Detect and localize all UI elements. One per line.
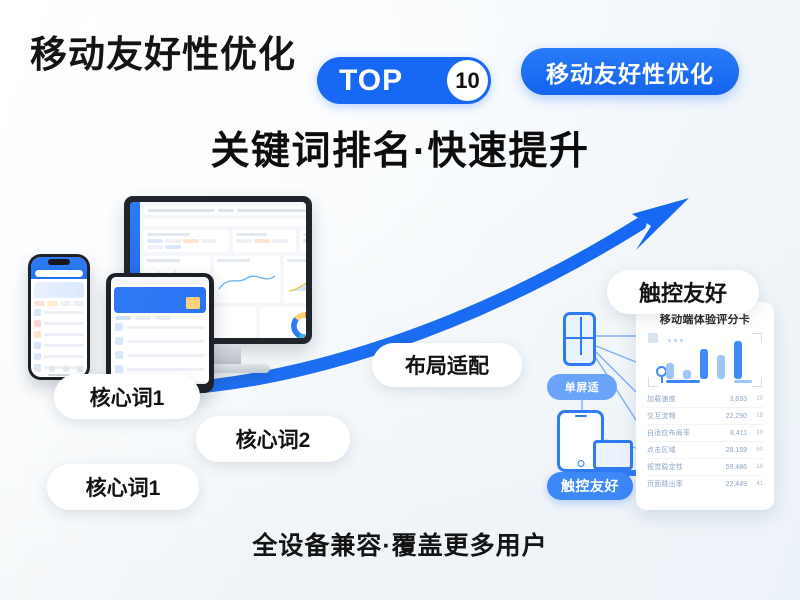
poster-canvas: 移动友好性优化 TOP 10 移动友好性优化 关键词排名·快速提升 bbox=[0, 0, 800, 600]
row-delta: 41 bbox=[747, 481, 763, 487]
diagram-pill-bottom: 触控友好 bbox=[547, 472, 633, 500]
list-item bbox=[34, 331, 84, 338]
row-delta: 18 bbox=[747, 464, 763, 470]
top-badge-rank: 10 bbox=[447, 60, 488, 101]
tablet-app-header bbox=[111, 277, 209, 284]
table-row: 加载速度 3,693 10 bbox=[646, 391, 764, 408]
line-spark-chart bbox=[217, 265, 277, 295]
footer-caption: 全设备兼容·覆盖更多用户 bbox=[0, 526, 800, 562]
list-item bbox=[34, 320, 84, 327]
table-row: 页面跳出率 22,449 41 bbox=[646, 476, 764, 492]
smartphone-mockup bbox=[28, 254, 90, 380]
row-delta: 60 bbox=[747, 447, 763, 453]
row-label: 加载速度 bbox=[647, 394, 719, 404]
score-bars bbox=[666, 337, 748, 379]
phone-app-header bbox=[31, 257, 87, 279]
dashboard-donut-card bbox=[260, 307, 306, 338]
area-spark-chart bbox=[287, 265, 306, 295]
row-label: 页面跳出率 bbox=[647, 479, 719, 489]
list-item bbox=[34, 309, 84, 316]
row-value: 59,486 bbox=[719, 464, 747, 471]
layout-chip: 布局适配 bbox=[372, 343, 522, 387]
diagram-pill-top: 单屏适 bbox=[547, 374, 617, 400]
keyword-chip-1: 核心词1 bbox=[54, 374, 200, 419]
list-item bbox=[34, 353, 84, 360]
table-row: 点击区域 28,159 60 bbox=[646, 442, 764, 459]
keyword-chip-3: 核心词1 bbox=[47, 464, 199, 510]
mobile-experience-diagram: 单屏适 触控友好 移动端体验评分卡 bbox=[536, 300, 776, 515]
dashboard-card bbox=[233, 230, 296, 252]
device-mockup-group bbox=[28, 196, 328, 401]
list-item bbox=[115, 337, 205, 345]
row-value: 28,159 bbox=[719, 447, 747, 454]
phone-banner bbox=[34, 282, 84, 298]
row-label: 交互流畅 bbox=[647, 411, 719, 421]
dashboard-card bbox=[300, 230, 306, 252]
row-delta: 10 bbox=[747, 396, 763, 402]
tablet-subnav bbox=[115, 316, 205, 320]
list-item bbox=[115, 365, 205, 373]
dashboard-card bbox=[144, 230, 229, 252]
touch-chip: 触控友好 bbox=[607, 270, 759, 314]
table-row: 视觉稳定性 59,486 18 bbox=[646, 459, 764, 476]
tablet-screen bbox=[111, 277, 209, 384]
phone-notch bbox=[48, 259, 70, 265]
header-tag-pill: 移动友好性优化 bbox=[521, 48, 739, 95]
row-value: 8,411 bbox=[719, 430, 747, 437]
dashboard-subbar bbox=[144, 219, 306, 226]
phone-screen bbox=[31, 257, 87, 377]
list-item bbox=[34, 342, 84, 349]
list-item bbox=[115, 323, 205, 331]
donut-chart bbox=[291, 312, 306, 338]
row-value: 3,693 bbox=[719, 396, 747, 403]
row-label: 点击区域 bbox=[647, 445, 719, 455]
table-row: 自适应布局率 8,411 19 bbox=[646, 425, 764, 442]
phone-search-bar bbox=[35, 270, 83, 277]
diagram-laptop-icon bbox=[593, 440, 633, 470]
row-delta: 19 bbox=[747, 430, 763, 436]
phone-tab-bar bbox=[31, 366, 87, 372]
dashboard-row-1 bbox=[144, 230, 306, 252]
page-title: 移动友好性优化 bbox=[30, 24, 296, 78]
dashboard-chart-card bbox=[284, 256, 306, 303]
row-delta: 18 bbox=[747, 413, 763, 419]
dashboard-toolbar bbox=[144, 206, 306, 215]
score-card-chart bbox=[648, 333, 762, 387]
top-badge-word: TOP bbox=[339, 66, 403, 96]
keyword-chip-2: 核心词2 bbox=[196, 416, 350, 462]
score-card: 移动端体验评分卡 加载速度 3,693 10 bbox=[636, 302, 774, 510]
top-rank-badge: TOP 10 bbox=[317, 57, 491, 104]
row-value: 22,290 bbox=[719, 413, 747, 420]
row-value: 22,449 bbox=[719, 481, 747, 488]
row-label: 自适应布局率 bbox=[647, 428, 719, 438]
tablet-hero-banner bbox=[114, 287, 206, 313]
list-item bbox=[115, 351, 205, 359]
score-card-list: 加载速度 3,693 10 交互流畅 22,290 18 自适应布局率 8,41… bbox=[646, 391, 764, 492]
table-row: 交互流畅 22,290 18 bbox=[646, 408, 764, 425]
page-subtitle: 关键词排名·快速提升 bbox=[0, 120, 800, 176]
phone-category-chips bbox=[34, 301, 84, 306]
diagram-small-phone-icon bbox=[563, 312, 596, 366]
dashboard-chart-card bbox=[214, 256, 280, 303]
row-label: 视觉稳定性 bbox=[647, 462, 719, 472]
